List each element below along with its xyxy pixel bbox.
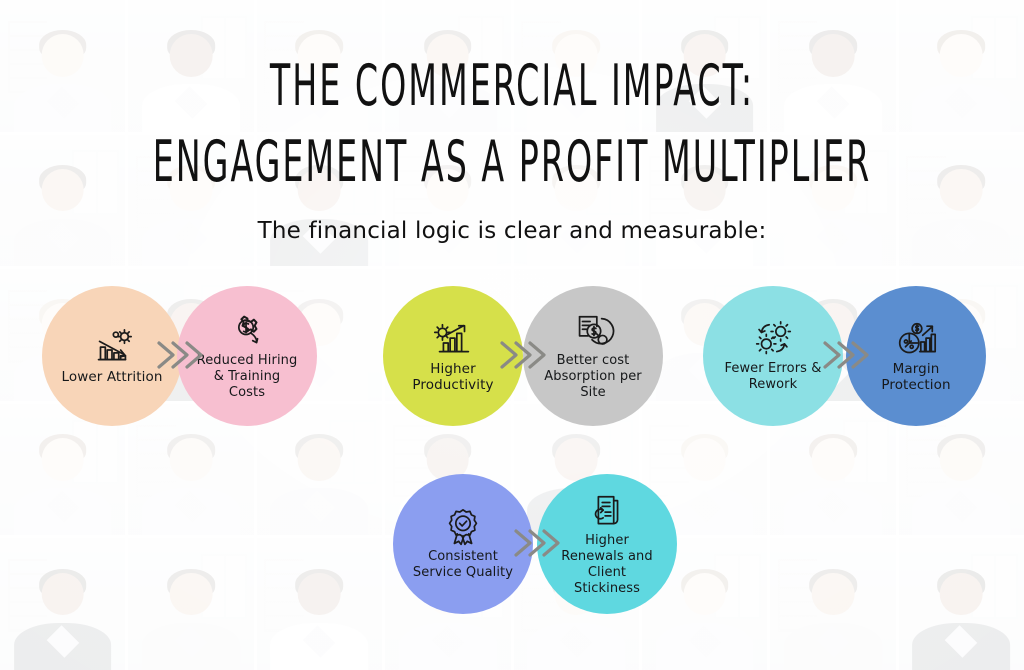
flow-node-label: Better cost Absorption per Site bbox=[544, 353, 642, 401]
triple-chevron-right-icon bbox=[510, 523, 566, 563]
declining-bar-chart-icon bbox=[89, 327, 135, 367]
page-title-line-2: ENGAGEMENT AS A PROFIT MULTIPLIER bbox=[0, 136, 1024, 189]
flow-node-label: Consistent Service Quality bbox=[413, 549, 513, 581]
slide-header: THE COMMERCIAL IMPACT: ENGAGEMENT AS A P… bbox=[0, 0, 1024, 244]
flow-node-label: Higher Renewals and Client Stickiness bbox=[561, 533, 652, 597]
flow-node-label: Reduced Hiring & Training Costs bbox=[197, 353, 298, 401]
dual-gears-refresh-icon bbox=[750, 319, 796, 359]
triple-chevron-right-icon bbox=[819, 335, 875, 375]
slide-canvas: THE COMMERCIAL IMPACT: ENGAGEMENT AS A P… bbox=[0, 0, 1024, 670]
flow-node-label: Fewer Errors & Rework bbox=[724, 361, 821, 393]
flow-node-label: Higher Productivity bbox=[412, 361, 493, 393]
gear-dollar-icon bbox=[224, 311, 270, 351]
triple-chevron-right-icon bbox=[153, 335, 209, 375]
page-subtitle: The financial logic is clear and measura… bbox=[0, 218, 1024, 244]
flow-node-label: Lower Attrition bbox=[62, 369, 163, 385]
triple-chevron-right-icon bbox=[496, 335, 552, 375]
rising-bar-chart-gear-icon bbox=[430, 319, 476, 359]
document-renewal-icon bbox=[584, 491, 630, 531]
page-title-line-1: THE COMMERCIAL IMPACT: bbox=[0, 60, 1024, 113]
pie-chart-growth-icon bbox=[893, 319, 939, 359]
award-badge-check-icon bbox=[440, 507, 486, 547]
flow-node-label: Margin Protection bbox=[881, 361, 950, 393]
document-cost-analysis-icon bbox=[570, 311, 616, 351]
